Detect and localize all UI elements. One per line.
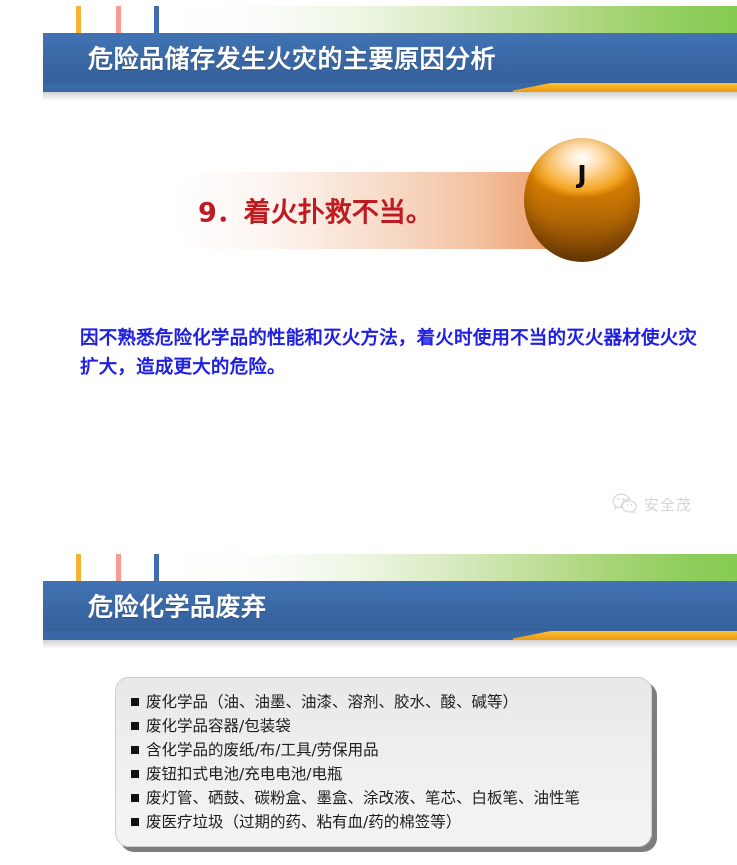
page-title-2: 危险化学品废弃: [88, 587, 267, 623]
bullet-square-icon: [131, 794, 139, 802]
list-item: 废化学品容器/包装袋: [131, 714, 641, 738]
gold-underline-blue-segment: [43, 83, 513, 92]
slide-header-2: 危险化学品废弃: [0, 548, 737, 646]
header-drop-shadow: [43, 92, 737, 101]
tick-orange-icon: [76, 554, 81, 581]
bullet-square-icon: [131, 698, 139, 706]
gold-underline-blue-segment: [43, 631, 513, 640]
waste-list: 废化学品（油、油墨、油漆、溶剂、胶水、酸、碱等）废化学品容器/包装袋含化学品的废…: [131, 690, 641, 834]
tick-pink-icon: [116, 6, 121, 33]
header-title-bar: 危险品储存发生火灾的主要原因分析: [43, 33, 737, 83]
header-green-gradient-bar-2: [160, 554, 737, 581]
list-item: 废化学品（油、油墨、油漆、溶剂、胶水、酸、碱等）: [131, 690, 641, 714]
header-gold-underline-2: [43, 631, 737, 640]
badge-sphere: J: [524, 138, 640, 262]
tick-blue-icon: [154, 554, 159, 581]
slide-body-paragraph: 因不熟悉危险化学品的性能和灭火方法，着火时使用不当的灭火器材使火灾扩大，造成更大…: [80, 325, 700, 382]
tick-orange-icon: [76, 6, 81, 33]
list-item-label: 废医疗垃圾（过期的药、粘有血/药的棉签等）: [146, 810, 461, 834]
watermark-label: 安全茂: [644, 494, 692, 515]
tick-pink-icon: [116, 554, 121, 581]
list-item-label: 废化学品（油、油墨、油漆、溶剂、胶水、酸、碱等）: [146, 690, 518, 714]
wechat-logo-icon: [612, 493, 638, 515]
list-item: 废钮扣式电池/充电电池/电瓶: [131, 762, 641, 786]
list-item-label: 含化学品的废纸/布/工具/劳保用品: [146, 738, 379, 762]
bullet-square-icon: [131, 722, 139, 730]
badge-sphere-letter: J: [524, 160, 640, 189]
list-item-label: 废灯管、硒鼓、碳粉盒、墨盒、涂改液、笔芯、白板笔、油性笔: [146, 786, 580, 810]
list-item-label: 废化学品容器/包装袋: [146, 714, 291, 738]
header-title-bar-2: 危险化学品废弃: [43, 581, 737, 631]
bullet-square-icon: [131, 818, 139, 826]
waste-list-card: 废化学品（油、油墨、油漆、溶剂、胶水、酸、碱等）废化学品容器/包装袋含化学品的废…: [115, 677, 652, 847]
header-gold-underline: [43, 83, 737, 92]
list-item: 废医疗垃圾（过期的药、粘有血/药的棉签等）: [131, 810, 641, 834]
header-drop-shadow-2: [43, 640, 737, 649]
list-item: 含化学品的废纸/布/工具/劳保用品: [131, 738, 641, 762]
point-banner-label: 9．着火扑救不当。: [198, 190, 433, 229]
page-title: 危险品储存发生火灾的主要原因分析: [88, 39, 496, 75]
header-green-gradient-bar: [160, 6, 737, 33]
list-item-label: 废钮扣式电池/充电电池/电瓶: [146, 762, 342, 786]
slide-header: 危险品储存发生火灾的主要原因分析: [0, 0, 737, 98]
list-item: 废灯管、硒鼓、碳粉盒、墨盒、涂改液、笔芯、白板笔、油性笔: [131, 786, 641, 810]
bullet-square-icon: [131, 770, 139, 778]
bullet-square-icon: [131, 746, 139, 754]
tick-blue-icon: [154, 6, 159, 33]
watermark: 安全茂: [612, 489, 720, 519]
slide-fire-causes: 危险品储存发生火灾的主要原因分析 9．着火扑救不当。 J 因不熟悉危险化学品的性…: [0, 0, 737, 540]
